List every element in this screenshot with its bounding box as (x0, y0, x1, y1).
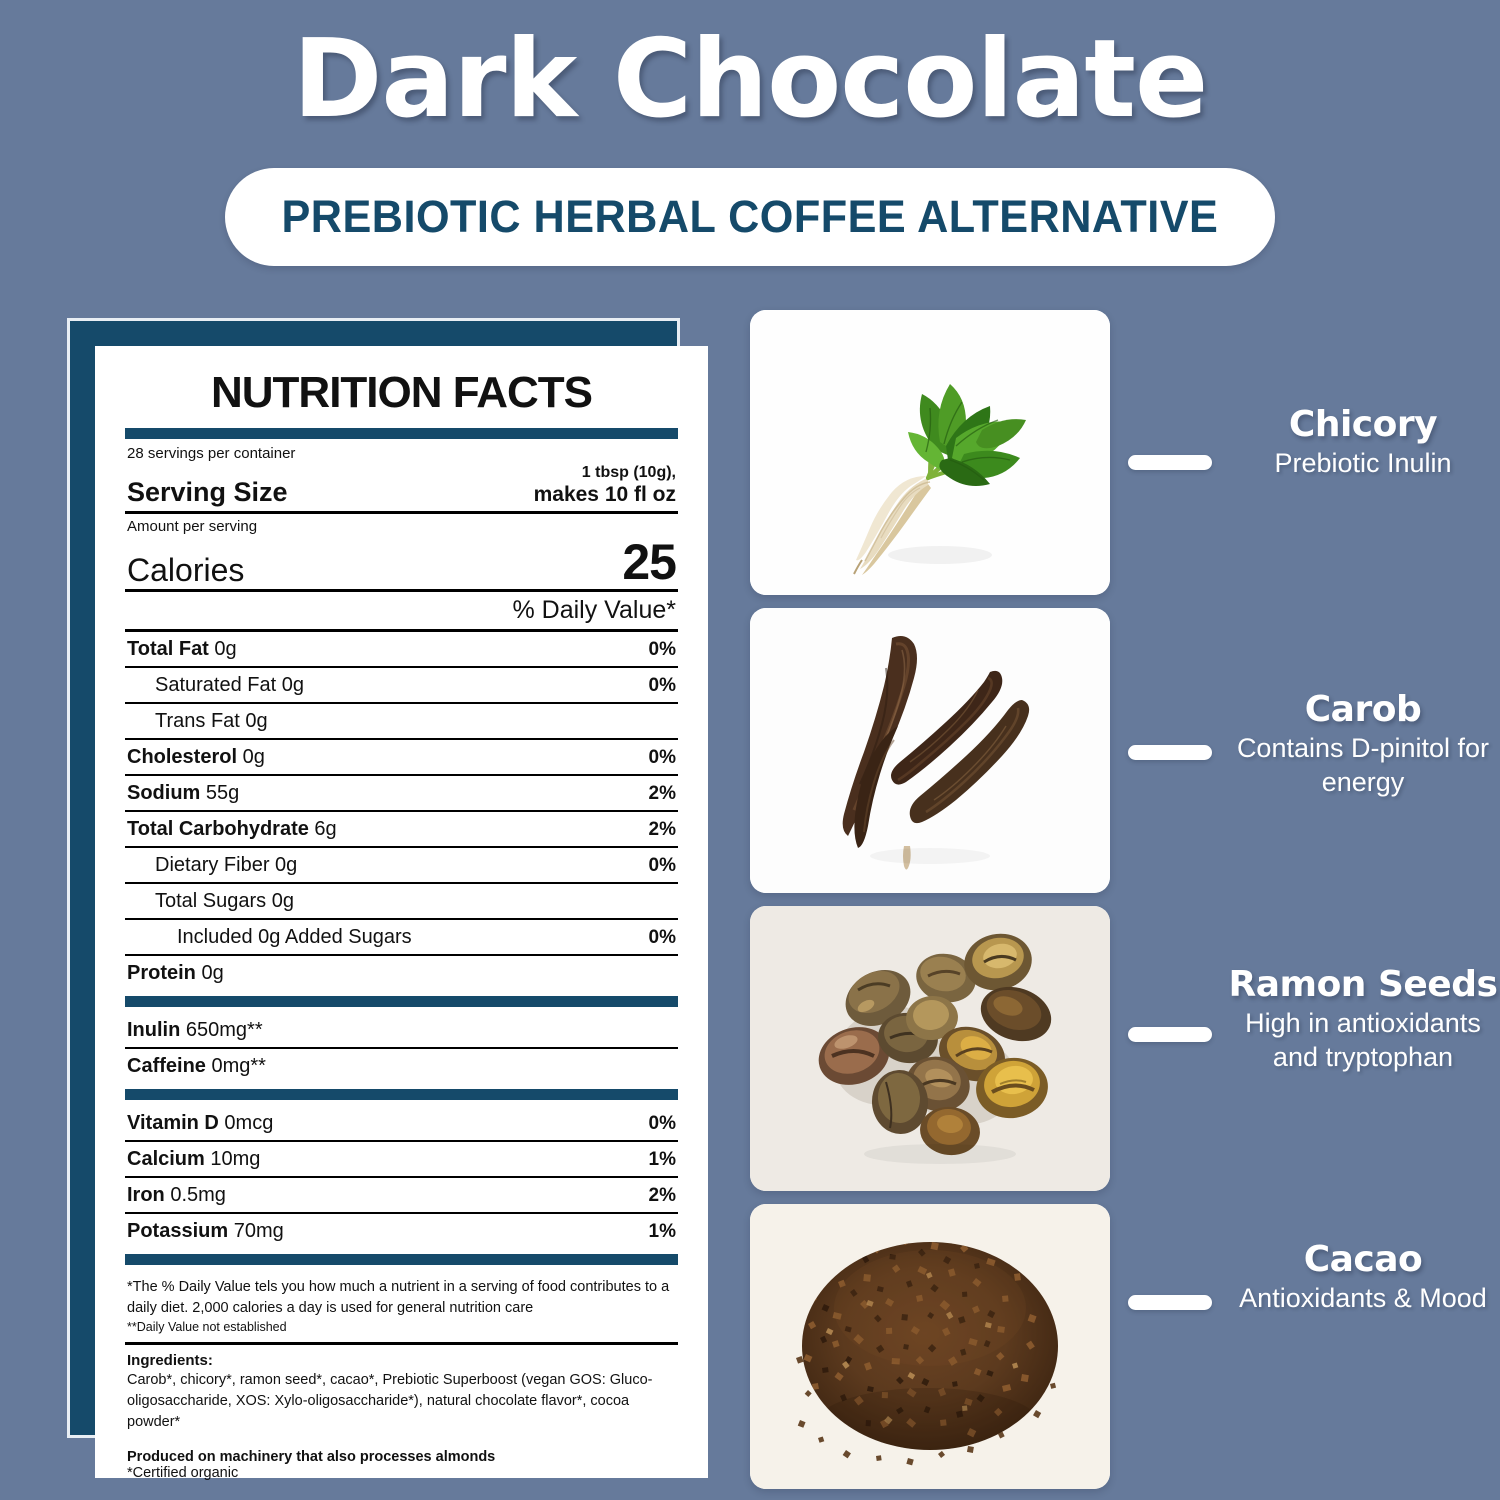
nutrition-facts-title: NUTRITION FACTS (125, 368, 678, 418)
calories-value: 25 (622, 537, 676, 587)
nutrient-name: Included 0g Added Sugars (177, 926, 412, 948)
daily-value-header: % Daily Value* (125, 592, 678, 629)
nutrient-row: Total Fat 0g0% (125, 632, 678, 666)
nutrient-amount: 10mg (205, 1148, 261, 1170)
nutrient-label: Cholesterol 0g (127, 746, 265, 769)
fact-desc-carob: Contains D-pinitol for energy (1226, 732, 1500, 799)
photo-card-cacao (750, 1204, 1110, 1489)
nutrient-row: Inulin 650mg** (125, 1013, 678, 1047)
nutrient-daily-value: 1% (649, 1221, 676, 1243)
nutrient-label: Included 0g Added Sugars (177, 926, 412, 949)
ingredients-heading: Ingredients: (125, 1345, 678, 1370)
nutrient-daily-value: 0% (649, 927, 676, 949)
nutrient-row: Trans Fat 0g (125, 704, 678, 738)
nutrient-daily-value: 1% (649, 1149, 676, 1171)
serving-size-value-line2: makes 10 fl oz (534, 482, 676, 507)
nutrient-label: Sodium 55g (127, 782, 239, 805)
divider-accent-bottom (125, 1254, 678, 1265)
nutrient-name: Protein (127, 962, 196, 984)
fact-desc-chicory: Prebiotic Inulin (1226, 447, 1500, 480)
fact-block-cacao: Cacao Antioxidants & Mood (1128, 1240, 1500, 1316)
nutrient-name: Inulin (127, 1019, 180, 1041)
nutrient-name: Saturated Fat (155, 674, 276, 696)
fact-name-carob: Carob (1226, 690, 1500, 730)
serving-size-row: Serving Size 1 tbsp (10g), makes 10 fl o… (125, 462, 678, 511)
nutrient-label: Total Sugars 0g (155, 890, 294, 913)
amount-per-serving-label: Amount per serving (125, 514, 678, 535)
calories-label: Calories (127, 554, 244, 588)
photo-card-carob (750, 608, 1110, 893)
nutrient-row: Dietary Fiber 0g0% (125, 848, 678, 882)
nutrient-name: Total Carbohydrate (127, 818, 309, 840)
serving-size-value-line1: 1 tbsp (10g), (534, 464, 676, 482)
nutrient-amount: 0mcg (219, 1112, 273, 1134)
nutrient-name: Dietary Fiber (155, 854, 269, 876)
nutrient-label: Potassium 70mg (127, 1220, 284, 1243)
nutrient-name: Iron (127, 1184, 165, 1206)
vitamin-mineral-rows: Vitamin D 0mcg0%Calcium 10mg1%Iron 0.5mg… (125, 1106, 678, 1248)
nutrient-label: Vitamin D 0mcg (127, 1112, 273, 1135)
serving-size-right: 1 tbsp (10g), makes 10 fl oz (534, 464, 676, 507)
nutrient-name: Vitamin D (127, 1112, 219, 1134)
nutrient-name: Sodium (127, 782, 200, 804)
nutrient-label: Inulin 650mg** (127, 1019, 263, 1042)
nutrient-daily-value: 0% (649, 747, 676, 769)
calories-row: Calories 25 (125, 535, 678, 589)
nutrient-amount: 0g (266, 890, 294, 912)
nutrient-label: Total Carbohydrate 6g (127, 818, 337, 841)
fact-name-cacao: Cacao (1226, 1240, 1500, 1280)
nutrient-daily-value: 0% (649, 1113, 676, 1135)
nutrient-amount: 650mg** (180, 1019, 262, 1041)
connector-dash-icon (1128, 455, 1212, 470)
ingredients-body: Carob*, chicory*, ramon seed*, cacao*, P… (125, 1370, 678, 1433)
divider-accent-special (125, 996, 678, 1007)
nutrient-amount: 70mg (228, 1220, 284, 1242)
nutrient-name: Calcium (127, 1148, 205, 1170)
nutrient-name: Cholesterol (127, 746, 237, 768)
ramon-seeds-photo (750, 906, 1110, 1191)
nutrient-row: Protein 0g (125, 956, 678, 990)
subtitle-text: PREBIOTIC HERBAL COFFEE ALTERNATIVE (282, 191, 1219, 243)
nutrient-label: Caffeine 0mg** (127, 1055, 266, 1078)
nutrient-amount: 0.5mg (165, 1184, 226, 1206)
page-header: Dark Chocolate PREBIOTIC HERBAL COFFEE A… (0, 0, 1500, 266)
nutrient-label: Calcium 10mg (127, 1148, 260, 1171)
nutrient-name: Trans Fat (155, 710, 240, 732)
nutrient-row: Vitamin D 0mcg0% (125, 1106, 678, 1140)
carob-pods-photo (750, 608, 1110, 893)
nutrient-daily-value: 0% (649, 855, 676, 877)
nutrient-amount: 0g (240, 710, 268, 732)
nutrient-row: Calcium 10mg1% (125, 1142, 678, 1176)
cacao-grounds-photo (750, 1204, 1110, 1489)
nutrition-facts-card: NUTRITION FACTS 28 servings per containe… (95, 346, 708, 1478)
connector-dash-icon (1128, 1027, 1212, 1042)
fact-block-chicory: Chicory Prebiotic Inulin (1128, 405, 1500, 481)
nutrient-row: Cholesterol 0g0% (125, 740, 678, 774)
photo-card-ramon (750, 906, 1110, 1191)
nutrient-row: Potassium 70mg1% (125, 1214, 678, 1248)
subtitle-pill: PREBIOTIC HERBAL COFFEE ALTERNATIVE (225, 168, 1275, 266)
fact-desc-cacao: Antioxidants & Mood (1226, 1282, 1500, 1315)
nutrient-name: Potassium (127, 1220, 228, 1242)
divider-accent-top (125, 428, 678, 439)
nutrient-label: Trans Fat 0g (155, 710, 268, 733)
fact-text-ramon-seeds: Ramon Seeds High in antioxidants and try… (1226, 965, 1500, 1074)
daily-value-footnote-2: **Daily Value not established (125, 1318, 678, 1341)
servings-per-container: 28 servings per container (125, 445, 678, 462)
nutrient-amount: 0g (276, 674, 304, 696)
photo-card-chicory (750, 310, 1110, 595)
page-title: Dark Chocolate (0, 18, 1500, 142)
nutrient-daily-value: 0% (649, 675, 676, 697)
nutrient-amount: 0g (237, 746, 265, 768)
nutrient-label: Total Fat 0g (127, 638, 237, 661)
nutrient-row: Saturated Fat 0g0% (125, 668, 678, 702)
nutrient-amount: 0mg** (206, 1055, 266, 1077)
connector-dash-icon (1128, 745, 1212, 760)
nutrient-amount: 0g (196, 962, 224, 984)
nutrient-label: Iron 0.5mg (127, 1184, 226, 1207)
divider-accent-vitamins (125, 1089, 678, 1100)
nutrient-label: Protein 0g (127, 962, 224, 985)
nutrient-amount: 6g (309, 818, 337, 840)
serving-size-label: Serving Size (127, 478, 288, 508)
organic-note: *Certified organic (125, 1465, 678, 1481)
nutrient-amount: 0g (269, 854, 297, 876)
nutrient-label: Dietary Fiber 0g (155, 854, 297, 877)
nutrient-label: Saturated Fat 0g (155, 674, 304, 697)
nutrient-daily-value: 2% (649, 819, 676, 841)
nutrient-daily-value: 2% (649, 1185, 676, 1207)
nutrient-row: Total Sugars 0g (125, 884, 678, 918)
allergen-note: Produced on machinery that also processe… (125, 1433, 678, 1465)
nutrient-amount: 0g (209, 638, 237, 660)
fact-text-chicory: Chicory Prebiotic Inulin (1226, 405, 1500, 481)
fact-name-chicory: Chicory (1226, 405, 1500, 445)
nutrient-row: Total Carbohydrate 6g2% (125, 812, 678, 846)
fact-block-ramon-seeds: Ramon Seeds High in antioxidants and try… (1128, 965, 1500, 1074)
nutrient-rows: Total Fat 0g0%Saturated Fat 0g0%Trans Fa… (125, 632, 678, 990)
nutrient-name: Total Fat (127, 638, 209, 660)
nutrient-name: Caffeine (127, 1055, 206, 1077)
fact-name-ramon-seeds: Ramon Seeds (1226, 965, 1500, 1005)
nutrient-daily-value: 2% (649, 783, 676, 805)
daily-value-footnote: *The % Daily Value tels you how much a n… (125, 1271, 678, 1318)
nutrient-row: Caffeine 0mg** (125, 1049, 678, 1083)
nutrient-amount: 55g (200, 782, 239, 804)
fact-desc-ramon-seeds: High in antioxidants and tryptophan (1226, 1007, 1500, 1074)
nutrient-row: Iron 0.5mg2% (125, 1178, 678, 1212)
fact-block-carob: Carob Contains D-pinitol for energy (1128, 690, 1500, 799)
fact-text-cacao: Cacao Antioxidants & Mood (1226, 1240, 1500, 1316)
nutrition-panel: NUTRITION FACTS 28 servings per containe… (67, 318, 727, 1478)
connector-dash-icon (1128, 1295, 1212, 1310)
chicory-root-photo (750, 310, 1110, 595)
nutrient-row: Included 0g Added Sugars0% (125, 920, 678, 954)
serving-size-left: Serving Size (127, 478, 288, 508)
nutrient-row: Sodium 55g2% (125, 776, 678, 810)
special-nutrient-rows: Inulin 650mg**Caffeine 0mg** (125, 1013, 678, 1083)
nutrient-name: Total Sugars (155, 890, 266, 912)
nutrient-daily-value: 0% (649, 639, 676, 661)
fact-text-carob: Carob Contains D-pinitol for energy (1226, 690, 1500, 799)
